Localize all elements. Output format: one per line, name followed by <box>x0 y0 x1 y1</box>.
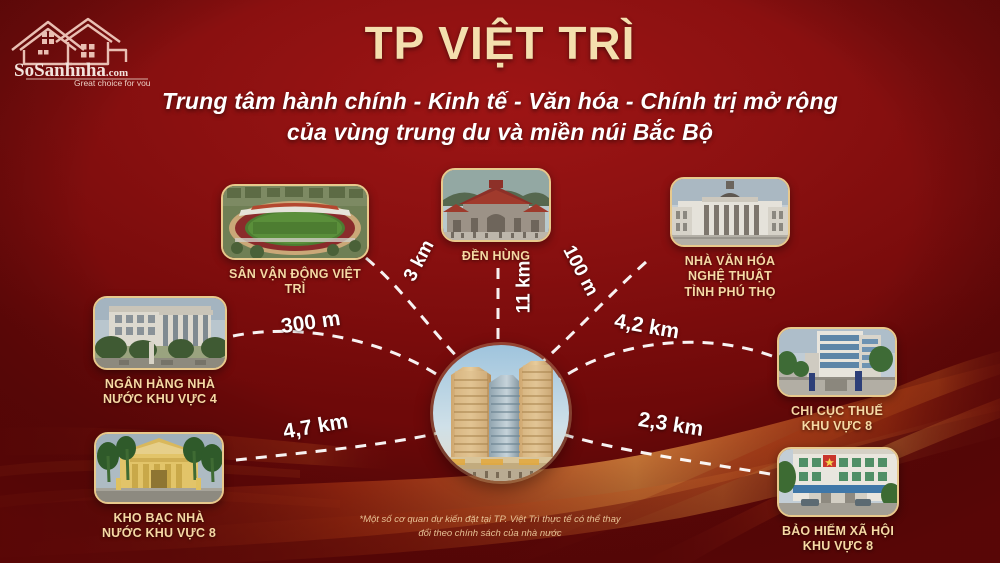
landmark-den-hung[interactable]: ĐỀN HÙNG <box>441 168 551 264</box>
landmark-label: SÂN VẬN ĐỘNG VIỆT TRÌ <box>221 267 369 297</box>
footnote-line-1: *Một số cơ quan dự kiến đặt tại TP. Việt… <box>300 513 680 527</box>
landmark-label: ĐỀN HÙNG <box>441 249 551 264</box>
landmark-label-line2: TỈNH PHÚ THỌ <box>670 285 790 300</box>
infographic-canvas: SoSanhnha.com Great choice for you TP VI… <box>0 0 1000 563</box>
landmark-label: NHÀ VĂN HÓA NGHỆ THUẬT <box>670 254 790 284</box>
line-treasury <box>236 430 450 460</box>
landmark-stadium[interactable]: SÂN VẬN ĐỘNG VIỆT TRÌ <box>221 184 369 297</box>
distance-label-den-hung: 11 km <box>513 261 535 314</box>
landmark-state-bank[interactable]: NGÂN HÀNG NHÀ NƯỚC KHU VỰC 4 <box>93 296 227 407</box>
line-bank <box>233 331 448 382</box>
stadium-aerial-icon <box>223 186 367 258</box>
landmark-culture-hall[interactable]: NHÀ VĂN HÓA NGHỆ THUẬT TỈNH PHÚ THỌ <box>670 177 790 299</box>
landmark-social-insurance[interactable]: BẢO HIỂM XÃ HỘI KHU VỰC 8 <box>777 447 899 554</box>
tax-office-icon <box>779 329 895 395</box>
line-social <box>556 432 770 474</box>
landmark-label: BẢO HIỂM XÃ HỘI KHU VỰC 8 <box>777 524 899 554</box>
landmark-thumbnail[interactable] <box>670 177 790 247</box>
landmark-tax-office[interactable]: CHI CỤC THUẾ KHU VỰC 8 <box>777 327 897 434</box>
line-tax <box>556 342 772 382</box>
footnote: *Một số cơ quan dự kiến đặt tại TP. Việt… <box>300 513 680 542</box>
center-project-image[interactable] <box>433 345 569 481</box>
landmark-thumbnail[interactable] <box>441 168 551 242</box>
footnote-line-2: đổi theo chính sách của nhà nước <box>300 527 680 541</box>
culture-hall-icon <box>672 179 788 245</box>
landmark-label: NGÂN HÀNG NHÀ NƯỚC KHU VỰC 4 <box>93 377 227 407</box>
treasury-building-icon <box>96 434 222 502</box>
landmark-thumbnail[interactable] <box>221 184 369 260</box>
center-circle-frame <box>433 345 569 481</box>
temple-gate-icon <box>443 170 549 240</box>
social-insurance-icon <box>779 449 897 515</box>
state-bank-icon <box>95 298 225 368</box>
landmark-label: CHI CỤC THUẾ KHU VỰC 8 <box>777 404 897 434</box>
landmark-thumbnail[interactable] <box>777 327 897 397</box>
landmark-thumbnail[interactable] <box>94 432 224 504</box>
landmark-thumbnail[interactable] <box>93 296 227 370</box>
apartment-towers-icon <box>433 345 569 481</box>
landmark-label: KHO BẠC NHÀ NƯỚC KHU VỰC 8 <box>94 511 224 541</box>
landmark-thumbnail[interactable] <box>777 447 899 517</box>
landmark-treasury[interactable]: KHO BẠC NHÀ NƯỚC KHU VỰC 8 <box>94 432 224 541</box>
